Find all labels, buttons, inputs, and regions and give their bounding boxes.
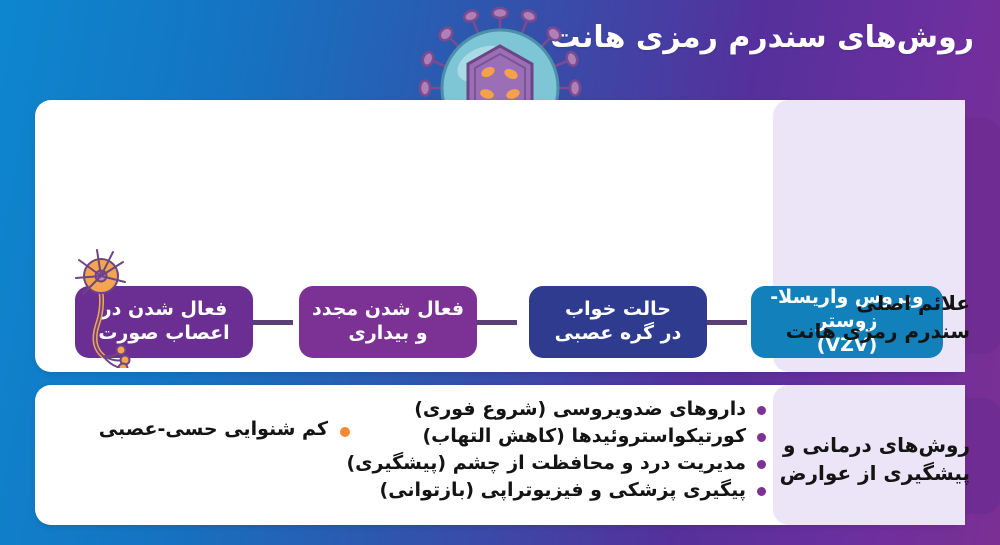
treatment-side-label: روش‌های درمانی و پیشگیری از عوارض [780, 432, 970, 487]
flow-step-latency-line1: حالت خواب [565, 298, 671, 320]
flow-step-reactivation-line1: فعال شدن مجدد [312, 298, 464, 320]
treatment-side-label-line1: روش‌های درمانی و [783, 433, 970, 457]
symptoms-side-label-line2: سندرم رمزی هانت [786, 319, 970, 343]
flow-step-latency-line2: در گره عصبی [555, 322, 682, 344]
treatment-side-label-line2: پیشگیری از عوارض [780, 461, 970, 485]
neuron-icon [73, 244, 147, 368]
page-title: روش‌های سندرم رمزی هانت [550, 20, 974, 55]
symptoms-side-label: علائم اصلی سندرم رمزی هانت [786, 290, 970, 345]
right-accent-bar-top [966, 118, 1000, 354]
infographic-canvas: روش‌های سندرم رمزی هانت [0, 0, 1000, 545]
list-item: داروهای ضدویروسی (شروع فوری) [368, 396, 768, 423]
list-item: مدیریت درد و محافظت از چشم (پیشگیری) [368, 450, 768, 477]
flow-step-reactivation-line2: و بیداری [348, 322, 427, 344]
list-item: پیگیری پزشکی و فیزیوتراپی (بازتوانی) [368, 477, 768, 504]
right-accent-bar-bottom [966, 398, 1000, 514]
symptoms-side-label-line1: علائم اصلی [856, 291, 970, 315]
treatment-list: داروهای ضدویروسی (شروع فوری) کورتیکواستر… [368, 396, 768, 504]
hearing-loss-item: کم شنوایی حسی-عصبی [99, 418, 350, 440]
flow-step-reactivation[interactable]: فعال شدن مجدد و بیداری [299, 286, 477, 358]
list-item: کورتیکواستروئیدها (کاهش التهاب) [368, 423, 768, 450]
flow-step-latency[interactable]: حالت خواب در گره عصبی [529, 286, 707, 358]
